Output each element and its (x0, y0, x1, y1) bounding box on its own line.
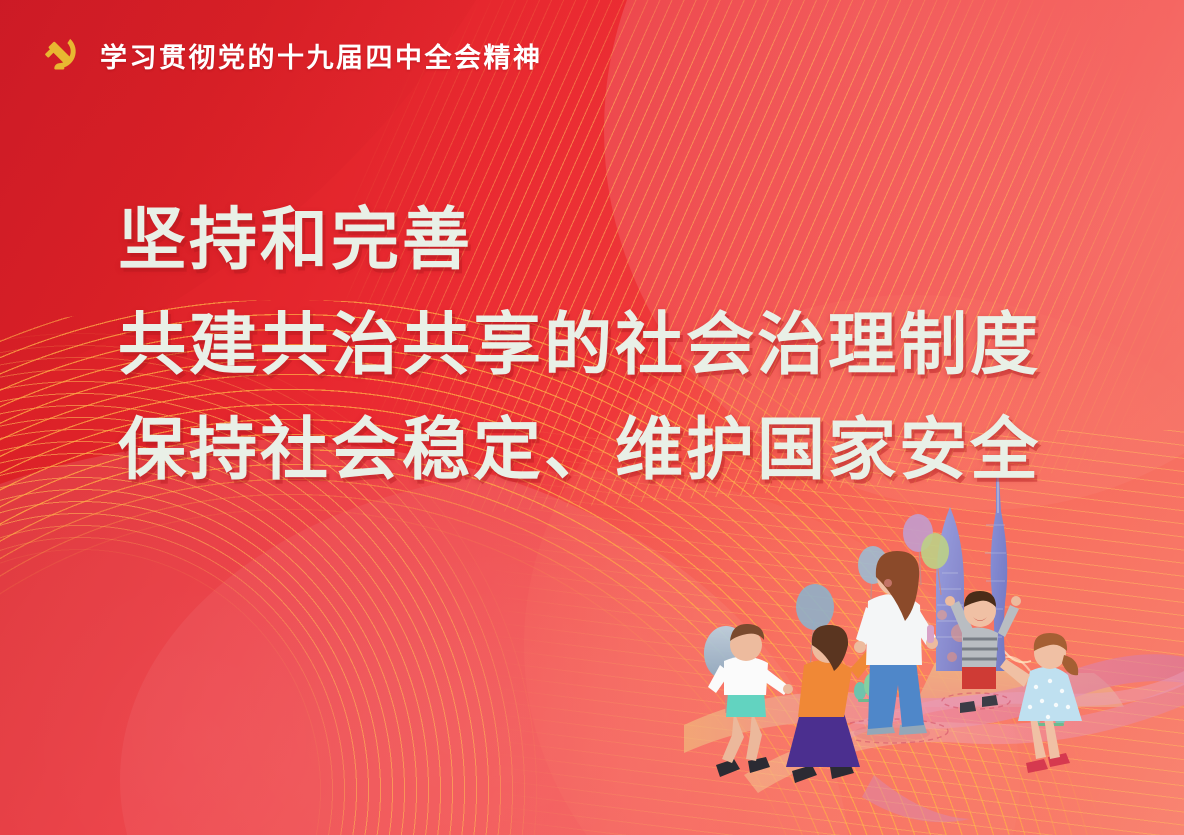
headline-line-1: 坚持和完善 (118, 205, 1041, 278)
headline-line-3: 保持社会稳定、维护国家安全 (118, 415, 1041, 488)
headline-block: 坚持和完善 共建共治共享的社会治理制度 保持社会稳定、维护国家安全 (118, 205, 1041, 487)
family-city-celebration-illustration (684, 475, 1184, 835)
bubble-wand (927, 625, 934, 643)
header-title: 学习贯彻党的十九届四中全会精神 (100, 45, 543, 72)
header-bar: 学习贯彻党的十九届四中全会精神 (34, 32, 543, 84)
ccp-hammer-sickle-emblem (34, 32, 86, 84)
headline-line-2: 共建共治共享的社会治理制度 (118, 310, 1041, 383)
poster-canvas: 学习贯彻党的十九届四中全会精神 坚持和完善 共建共治共享的社会治理制度 保持社会… (0, 0, 1184, 835)
